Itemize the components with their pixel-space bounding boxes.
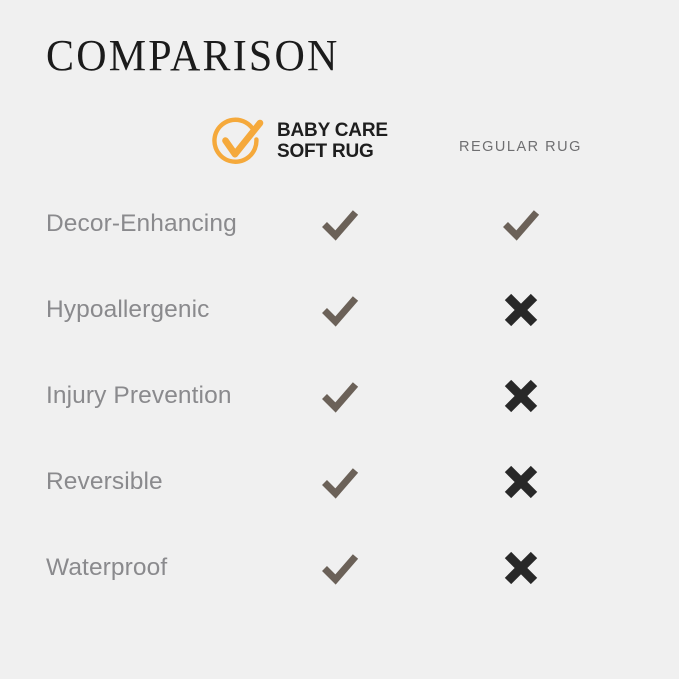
comparison-infographic: COMPARISON BABY CARE SOFT RUG REGULAR RU… xyxy=(0,0,679,679)
cross-mark-icon xyxy=(500,547,542,589)
check-mark-icon xyxy=(319,461,361,503)
brand-name-line-1: BABY CARE xyxy=(277,120,388,141)
orange-circle-check-icon xyxy=(208,112,266,170)
check-mark-icon xyxy=(319,203,361,245)
cell-regular-rug xyxy=(491,284,551,336)
comparison-row: Decor-Enhancing xyxy=(0,198,679,284)
comparison-row: Waterproof xyxy=(0,542,679,628)
cell-regular-rug xyxy=(491,370,551,422)
competitor-column-header: REGULAR RUG xyxy=(459,139,582,155)
page-title: COMPARISON xyxy=(46,34,340,79)
comparison-row: Hypoallergenic xyxy=(0,284,679,370)
comparison-rows: Decor-EnhancingHypoallergenicInjury Prev… xyxy=(0,198,679,628)
brand-name-line-2: SOFT RUG xyxy=(277,141,388,162)
check-mark-icon xyxy=(319,547,361,589)
cell-baby-care-soft-rug xyxy=(310,370,370,422)
feature-label: Reversible xyxy=(46,456,163,508)
cell-baby-care-soft-rug xyxy=(310,284,370,336)
check-mark-icon xyxy=(319,289,361,331)
feature-label: Waterproof xyxy=(46,542,167,594)
comparison-row: Injury Prevention xyxy=(0,370,679,456)
cross-mark-icon xyxy=(500,289,542,331)
brand-name: BABY CARE SOFT RUG xyxy=(277,120,388,163)
feature-label: Hypoallergenic xyxy=(46,284,209,336)
cell-baby-care-soft-rug xyxy=(310,198,370,250)
feature-label: Decor-Enhancing xyxy=(46,198,237,250)
check-mark-icon xyxy=(500,203,542,245)
brand-logo xyxy=(208,112,266,170)
brand-column-header: BABY CARE SOFT RUG xyxy=(208,112,388,170)
comparison-row: Reversible xyxy=(0,456,679,542)
cross-mark-icon xyxy=(500,461,542,503)
cell-regular-rug xyxy=(491,198,551,250)
cross-mark-icon xyxy=(500,375,542,417)
feature-label: Injury Prevention xyxy=(46,370,232,422)
comparison-header-row: BABY CARE SOFT RUG REGULAR RUG xyxy=(0,112,679,184)
check-mark-icon xyxy=(319,375,361,417)
cell-regular-rug xyxy=(491,456,551,508)
cell-baby-care-soft-rug xyxy=(310,456,370,508)
cell-baby-care-soft-rug xyxy=(310,542,370,594)
cell-regular-rug xyxy=(491,542,551,594)
